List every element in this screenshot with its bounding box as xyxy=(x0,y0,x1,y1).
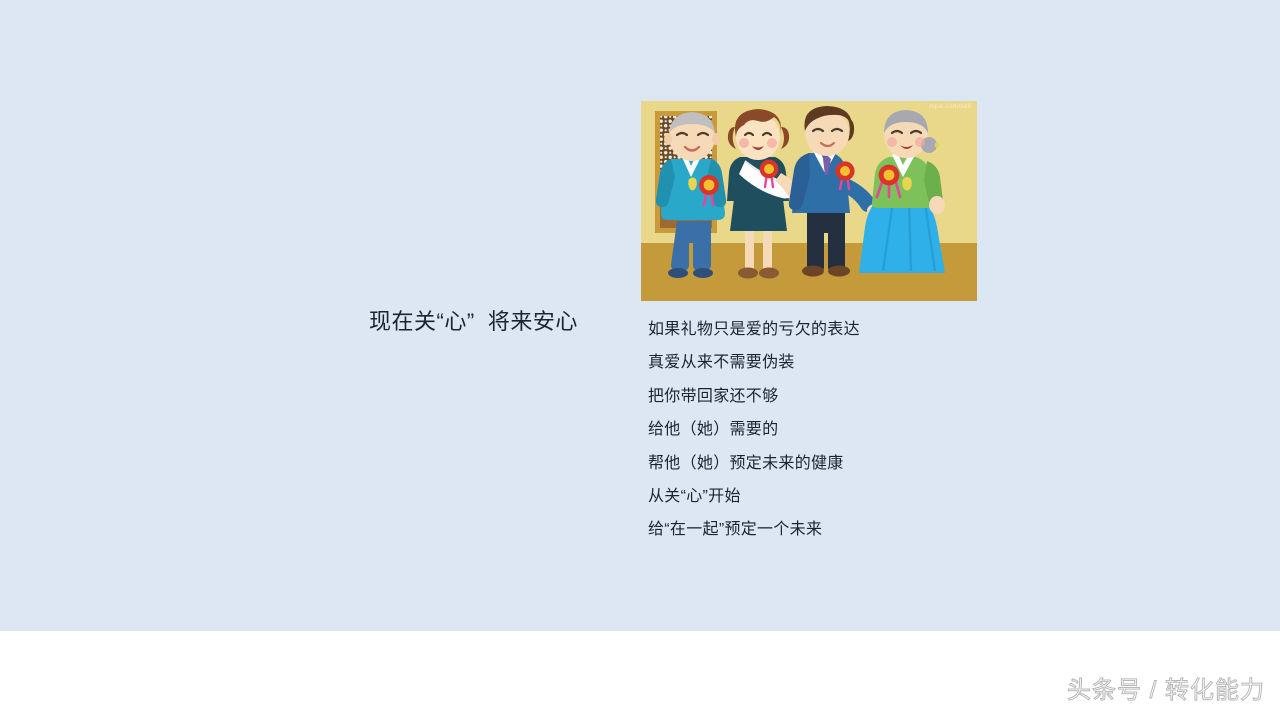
body-copy-block: 如果礼物只是爱的亏欠的表达 真爱从来不需要伪装 把你带回家还不够 给他（她）需要… xyxy=(648,313,948,547)
body-line: 给他（她）需要的 xyxy=(648,413,948,446)
body-line: 帮他（她）预定未来的健康 xyxy=(648,447,948,480)
body-line: 真爱从来不需要伪装 xyxy=(648,346,948,379)
body-line: 给“在一起”预定一个未来 xyxy=(648,513,948,546)
body-line: 从关“心”开始 xyxy=(648,480,948,513)
channel-watermark: 头条号 / 转化能力 xyxy=(1067,676,1265,706)
family-illustration: nipic.com/sell xyxy=(641,101,977,301)
body-line: 把你带回家还不够 xyxy=(648,380,948,413)
body-line: 如果礼物只是爱的亏欠的表达 xyxy=(648,313,948,346)
stock-photo-watermark: nipic.com/sell xyxy=(929,104,971,110)
slide-canvas: nipic.com/sell 现在关“心” 将来安心 如果礼物只是爱的亏欠的表达… xyxy=(0,0,1280,631)
page-title: 现在关“心” 将来安心 xyxy=(369,309,578,335)
